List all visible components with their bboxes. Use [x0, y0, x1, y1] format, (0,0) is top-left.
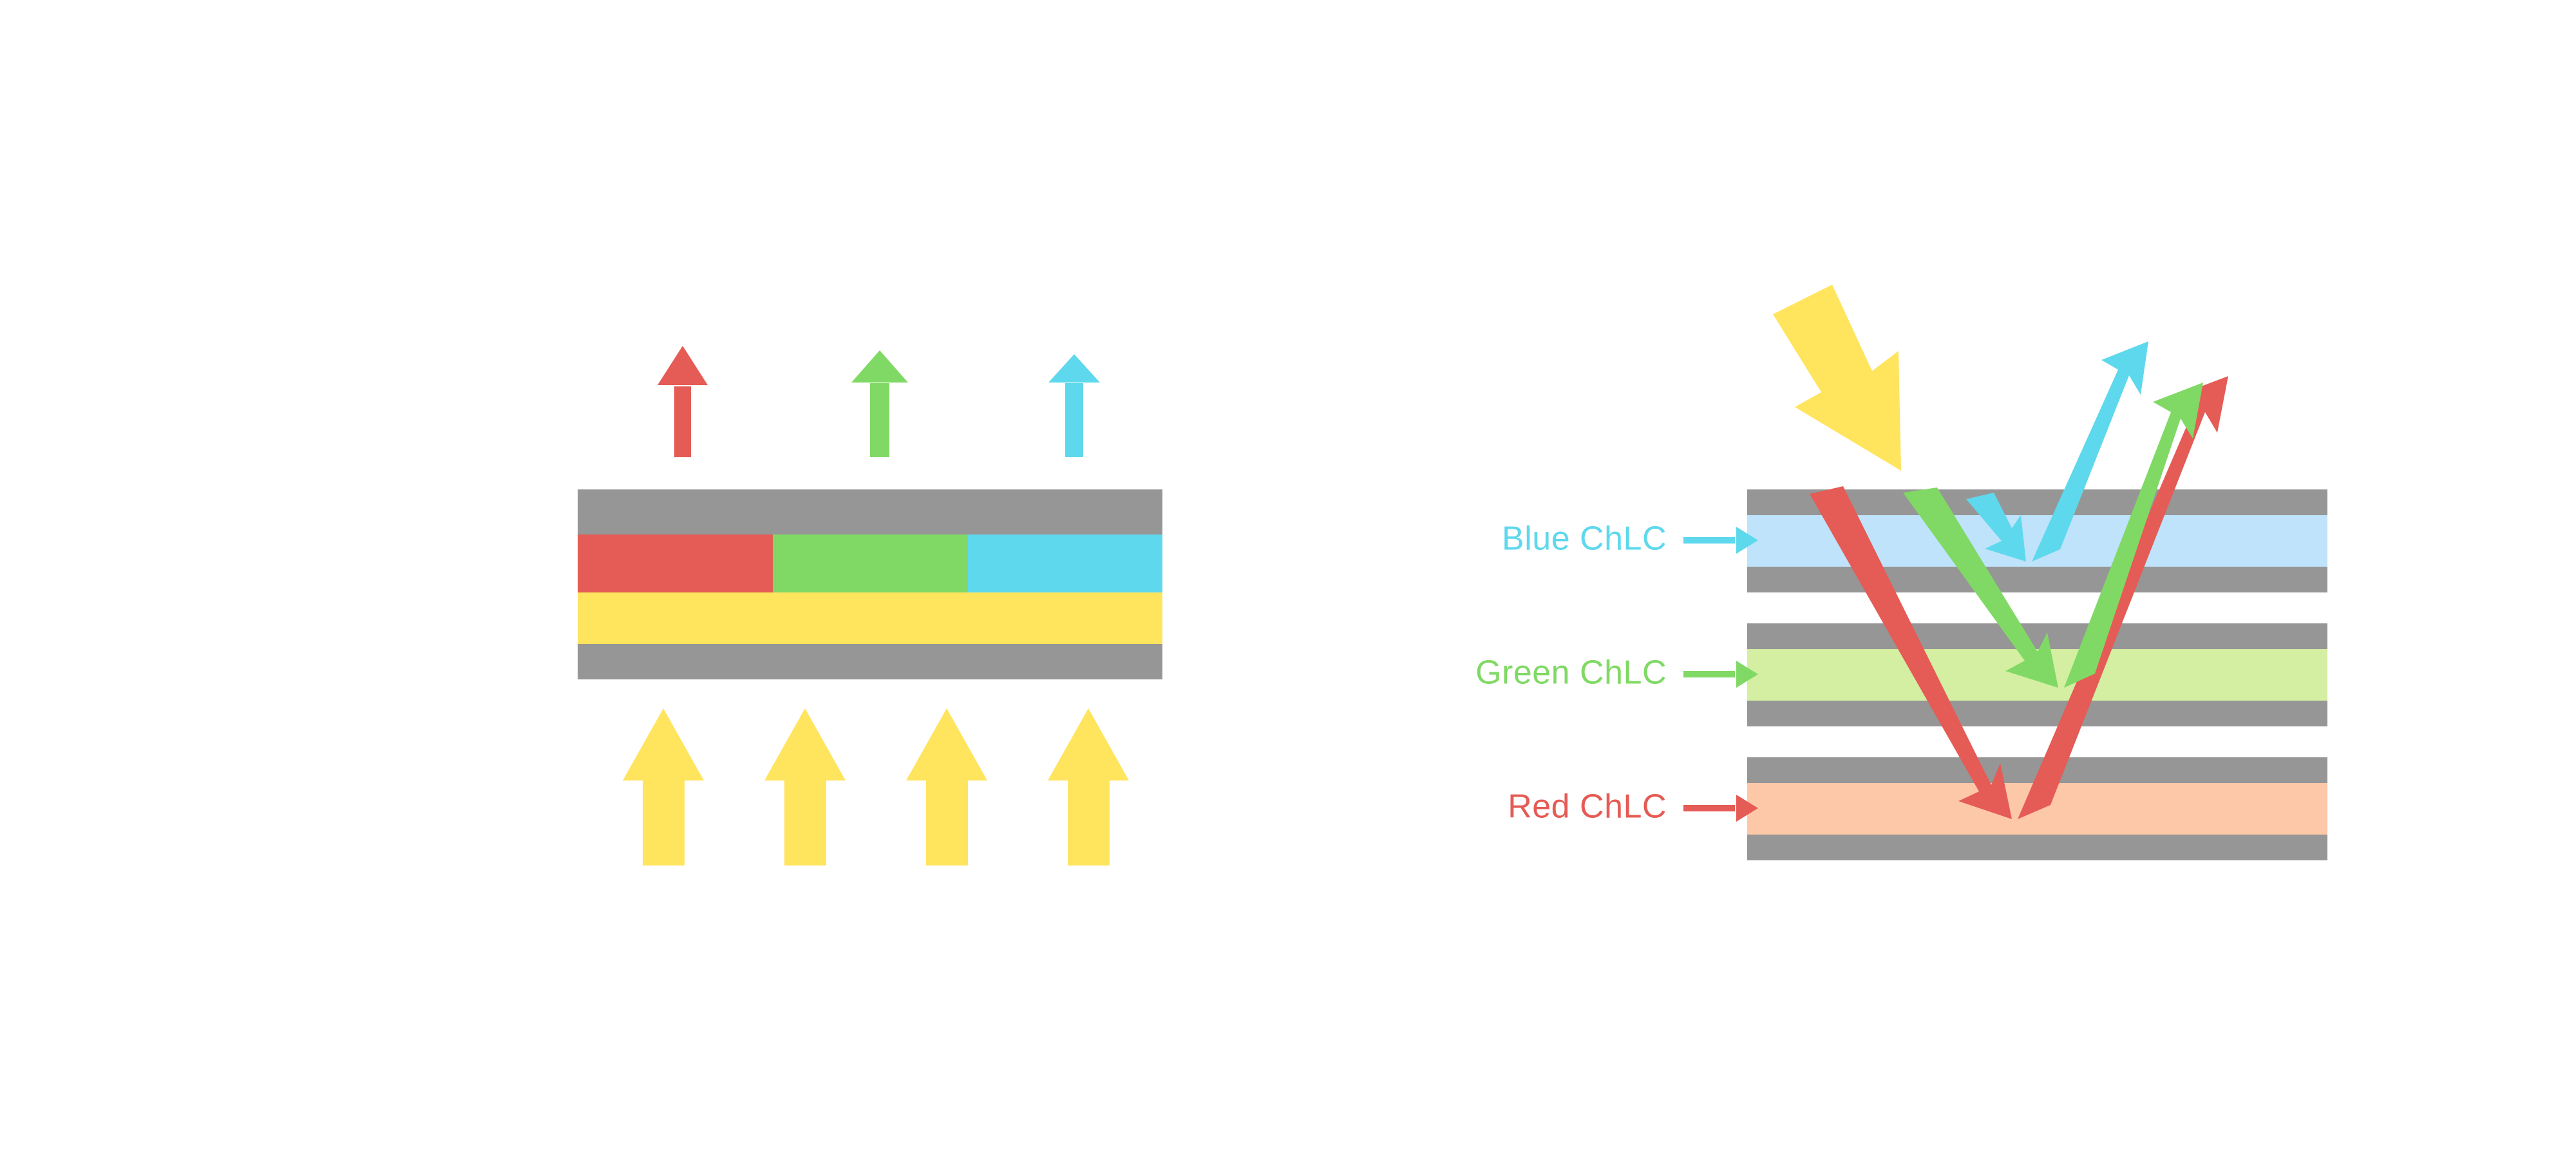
backlight-arrow-3-shaft — [926, 780, 968, 865]
green-emission-arrow-shaft — [870, 383, 889, 457]
red-cell-bottom-electrode — [1747, 835, 2327, 860]
backlight-layer — [578, 592, 1162, 644]
cyan-emission-arrow-shaft — [1065, 383, 1083, 457]
figure-root: Blue ChLC Green ChLC Red ChLC — [0, 0, 2576, 1154]
blue-cell-bottom-electrode — [1747, 567, 2327, 592]
backlight-arrow-4-shaft — [1068, 780, 1110, 865]
green-cell-top-electrode — [1747, 623, 2327, 649]
green-cell-bottom-electrode — [1747, 701, 2327, 726]
blue-chlc-label-text: Blue ChLC — [1502, 520, 1667, 558]
red-filter-segment — [578, 534, 773, 592]
backlight-arrow-1-shaft — [643, 780, 685, 865]
red-emission-arrow-shaft — [674, 386, 691, 457]
green-chlc-label-text: Green ChLC — [1475, 654, 1667, 692]
cyan-filter-segment — [968, 534, 1162, 592]
backlight-arrow-2-shaft — [784, 780, 826, 865]
green-filter-segment — [773, 534, 968, 592]
diagram-canvas: Blue ChLC Green ChLC Red ChLC — [0, 0, 2576, 1154]
left-top-electrode — [578, 489, 1162, 534]
left-bottom-electrode — [578, 644, 1162, 679]
red-chlc-label-text: Red ChLC — [1508, 788, 1667, 826]
